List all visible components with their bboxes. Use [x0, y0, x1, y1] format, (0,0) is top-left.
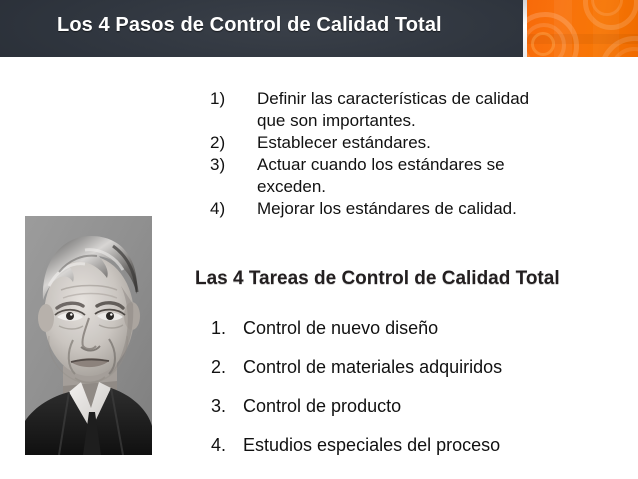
accent-circle-icon [531, 32, 555, 56]
quality-steps-list: 1) Definir las características de calida… [210, 88, 602, 220]
list-item: 3. Control de producto [211, 396, 611, 416]
list-item-text: Estudios especiales del proceso [243, 435, 611, 455]
list-item-number: 2) [210, 132, 257, 154]
quality-tasks-list: 1. Control de nuevo diseño 2. Control de… [211, 318, 611, 455]
list-item-number: 4) [210, 198, 257, 220]
list-item-number: 2. [211, 357, 243, 377]
section-heading: Las 4 Tareas de Control de Calidad Total [195, 268, 560, 290]
list-item-text: Definir las características de calidad q… [257, 88, 602, 132]
list-item-number: 1. [211, 318, 243, 338]
list-item-text: Control de producto [243, 396, 611, 416]
page-title: Los 4 Pasos de Control de Calidad Total [57, 14, 442, 37]
list-item: 2. Control de materiales adquiridos [211, 357, 611, 377]
list-item-number: 4. [211, 435, 243, 455]
list-item: 1) Definir las características de calida… [210, 88, 602, 132]
header-accent-graphic [527, 0, 638, 57]
list-item-text: Establecer estándares. [257, 132, 602, 154]
slide-root: Los 4 Pasos de Control de Calidad Total … [0, 0, 638, 479]
list-item-number: 3. [211, 396, 243, 416]
list-item: 4) Mejorar los estándares de calidad. [210, 198, 602, 220]
list-item-text: Control de nuevo diseño [243, 318, 611, 338]
list-item-text: Control de materiales adquiridos [243, 357, 611, 377]
list-item-number: 3) [210, 154, 257, 176]
list-item: 2) Establecer estándares. [210, 132, 602, 154]
portrait-photo [25, 216, 152, 455]
list-item: 4. Estudios especiales del proceso [211, 435, 611, 455]
list-item-number: 1) [210, 88, 257, 110]
list-item-text: Actuar cuando los estándares se exceden. [257, 154, 602, 198]
list-item: 1. Control de nuevo diseño [211, 318, 611, 338]
list-item: 3) Actuar cuando los estándares se exced… [210, 154, 602, 198]
list-item-text: Mejorar los estándares de calidad. [257, 198, 602, 220]
